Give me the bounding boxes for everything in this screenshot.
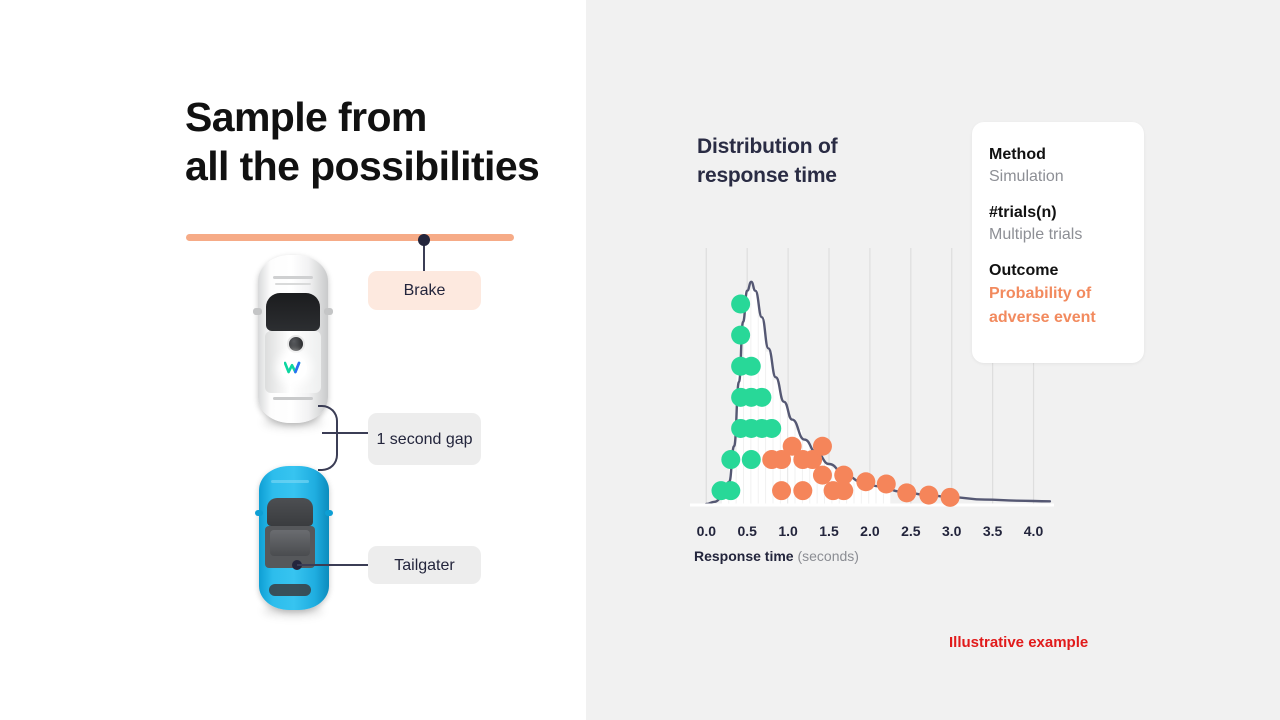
- windshield: [266, 293, 320, 331]
- chart-title: Distribution of response time: [697, 132, 967, 190]
- card-trials-value: Multiple trials: [989, 224, 1144, 246]
- card-outcome-key: Outcome: [989, 260, 1144, 282]
- card-method-value: Simulation: [989, 166, 1144, 188]
- page-title-line1: Sample from: [185, 94, 427, 140]
- x-tick-0.0: 0.0: [697, 523, 716, 539]
- tailgater-vehicle: [255, 466, 333, 614]
- waymo-w-icon: [281, 355, 307, 381]
- brake-anchor-dot: [418, 234, 430, 246]
- card-group-outcome: Outcome Probability of adverse event: [989, 260, 1144, 330]
- sample-dot-adverse-event: [941, 488, 960, 507]
- label-gap-line1: 1 second: [376, 431, 441, 448]
- rear-window: [270, 530, 310, 556]
- gap-connector-line: [322, 432, 368, 434]
- sample-dot-adverse-event: [772, 481, 791, 500]
- mirror-right: [324, 308, 333, 315]
- tailgater-connector-line: [297, 564, 368, 566]
- mirror-left: [255, 510, 263, 516]
- sample-dot-no-adverse-event: [742, 357, 761, 376]
- waymo-av-vehicle: [253, 255, 333, 423]
- label-gap[interactable]: 1 second gap: [368, 413, 481, 465]
- chart-title-line2: response time: [697, 161, 967, 190]
- chart-title-line1: Distribution of: [697, 135, 837, 158]
- x-tick-3.0: 3.0: [942, 523, 961, 539]
- x-axis-label-text: Response time: [694, 548, 794, 564]
- sample-dot-no-adverse-event: [731, 295, 750, 314]
- sample-dot-no-adverse-event: [752, 388, 771, 407]
- brake-road-bar: [186, 234, 514, 241]
- gap-brace: [318, 405, 338, 471]
- card-outcome-value-line1: Probability of: [989, 285, 1091, 302]
- sample-dot-no-adverse-event: [742, 450, 761, 469]
- x-axis-label: Response time (seconds): [694, 548, 859, 564]
- card-outcome-value-line2: adverse event: [989, 309, 1096, 326]
- mirror-right: [325, 510, 333, 516]
- sample-dot-no-adverse-event: [762, 419, 781, 438]
- label-gap-text: 1 second gap: [376, 429, 472, 450]
- x-axis-label-unit: (seconds): [797, 548, 858, 564]
- sample-dot-adverse-event: [897, 483, 916, 502]
- x-tick-1.5: 1.5: [819, 523, 838, 539]
- x-tick-4.0: 4.0: [1024, 523, 1043, 539]
- page-title: Sample from all the possibilities: [185, 93, 585, 191]
- method-info-card: Method Simulation #trials(n) Multiple tr…: [972, 122, 1144, 363]
- sample-dot-adverse-event: [813, 437, 832, 456]
- trunk-line: [269, 584, 311, 596]
- left-panel: Sample from all the possibilities Brake: [0, 0, 586, 720]
- x-tick-2.5: 2.5: [901, 523, 920, 539]
- label-tailgater[interactable]: Tailgater: [368, 546, 481, 584]
- slide-canvas: Sample from all the possibilities Brake: [0, 0, 1280, 720]
- hood-line: [273, 276, 313, 279]
- mirror-left: [253, 308, 262, 315]
- sample-dot-adverse-event: [919, 486, 938, 505]
- windshield: [267, 498, 313, 526]
- x-axis-ticks: 0.00.51.01.52.02.53.03.54.0: [686, 523, 1058, 543]
- sample-dot-adverse-event: [793, 481, 812, 500]
- sample-dot-adverse-event: [877, 475, 896, 494]
- page-title-line2: all the possibilities: [185, 142, 585, 191]
- label-brake[interactable]: Brake: [368, 271, 481, 310]
- illustrative-example-note: Illustrative example: [949, 634, 1088, 651]
- x-tick-0.5: 0.5: [737, 523, 756, 539]
- sample-dot-adverse-event: [856, 472, 875, 491]
- hood-line-secondary: [275, 283, 311, 285]
- x-tick-3.5: 3.5: [983, 523, 1002, 539]
- card-trials-key: #trials(n): [989, 202, 1144, 224]
- trunk-line: [273, 397, 313, 400]
- sample-dot-no-adverse-event: [731, 326, 750, 345]
- label-gap-line2: gap: [446, 431, 473, 448]
- card-method-key: Method: [989, 144, 1144, 166]
- x-tick-1.0: 1.0: [778, 523, 797, 539]
- sample-dot-no-adverse-event: [721, 481, 740, 500]
- hood-line: [271, 480, 309, 483]
- lidar-dome-icon: [287, 335, 305, 353]
- card-outcome-value: Probability of adverse event: [989, 282, 1137, 330]
- sample-dot-no-adverse-event: [721, 450, 740, 469]
- card-group-method: Method Simulation: [989, 144, 1144, 188]
- sample-dot-adverse-event: [834, 466, 853, 485]
- x-tick-2.0: 2.0: [860, 523, 879, 539]
- card-group-trials: #trials(n) Multiple trials: [989, 202, 1144, 246]
- sample-dot-adverse-event: [813, 466, 832, 485]
